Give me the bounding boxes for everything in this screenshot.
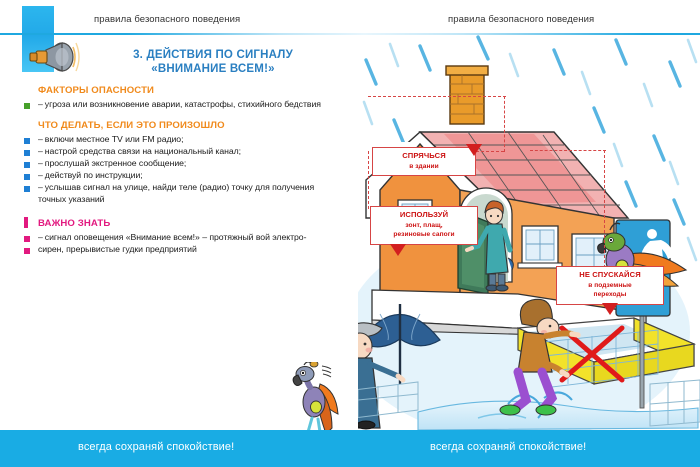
title-line-2: «ВНИМАНИЕ ВСЕМ!»	[78, 62, 348, 76]
section-heading: ЧТО ДЕЛАТЬ, ЕСЛИ ЭТО ПРОИЗОШЛО	[16, 119, 360, 132]
banner-text-right: всегда сохраняй спокойствие!	[430, 441, 586, 453]
square-bullet-icon	[24, 236, 30, 242]
callout-guide-line	[368, 151, 369, 209]
list-item-label: сигнал оповещения «Внимание всем!» – про…	[45, 232, 307, 242]
pink-accent-bar	[24, 217, 28, 228]
callout-title: НЕ СПУСКАЙСЯ	[563, 270, 657, 280]
square-bullet-icon	[24, 103, 30, 109]
hazard-factors-list: –угроза или возникновение аварии, катаст…	[16, 99, 360, 110]
callout-subtitle-line-2: переходы	[563, 290, 657, 300]
list-item: –действуй по инструкции;	[16, 170, 360, 181]
callout-hide-in-building: СПРЯЧЬСЯ в здании	[372, 147, 476, 176]
bottom-banner: всегда сохраняй спокойствие! всегда сохр…	[0, 430, 700, 467]
list-item-label: действуй по инструкции;	[45, 170, 143, 180]
square-bullet-icon	[24, 150, 30, 156]
section-hazard-factors: ФАКТОРЫ ОПАСНОСТИ –угроза или возникнове…	[16, 84, 360, 110]
page-title: 3. ДЕЙСТВИЯ ПО СИГНАЛУ «ВНИМАНИЕ ВСЕМ!»	[78, 48, 348, 76]
list-item: –сигнал оповещения «Внимание всем!» – пр…	[16, 232, 360, 243]
callout-arrow-icon	[390, 244, 406, 256]
section-heading: ФАКТОРЫ ОПАСНОСТИ	[16, 84, 360, 97]
callout-subtitle: в здании	[379, 162, 469, 172]
list-item: –прослушай экстренное сообщение;	[16, 158, 360, 169]
callout-subtitle-line-2: резиновые сапоги	[377, 230, 471, 240]
important-list: –сигнал оповещения «Внимание всем!» – пр…	[16, 232, 360, 255]
list-item-label: услышав сигнал на улице, найди теле (рад…	[45, 182, 314, 192]
square-bullet-icon	[24, 174, 30, 180]
list-item: –настрой средства связи на национальный …	[16, 146, 360, 157]
callout-subtitle-line-1: зонт, плащ,	[377, 221, 471, 231]
list-item-label: настрой средства связи на национальный к…	[45, 146, 241, 156]
header-text-right: правила безопасного поведения	[448, 14, 594, 25]
list-item: –услышав сигнал на улице, найди теле (ра…	[16, 182, 360, 193]
text-panel: ФАКТОРЫ ОПАСНОСТИ –угроза или возникнове…	[16, 84, 360, 256]
callout-guide-line	[368, 96, 506, 97]
square-bullet-icon	[24, 162, 30, 168]
list-item-label: сирен, прерывистые гудки предприятий	[38, 244, 197, 254]
callout-no-underpass: НЕ СПУСКАЙСЯ в подземные переходы	[556, 266, 664, 305]
section-important-to-know: ВАЖНО ЗНАТЬ –сигнал оповещения «Внимание…	[16, 217, 360, 255]
list-item-label: угроза или возникновение аварии, катастр…	[45, 99, 321, 109]
callout-guide-line	[604, 150, 605, 268]
chimney	[446, 66, 488, 124]
square-bullet-icon	[24, 248, 30, 254]
callout-arrow-icon	[602, 303, 618, 315]
square-bullet-icon	[24, 186, 30, 192]
callout-guide-line	[530, 150, 606, 151]
header-text-left: правила безопасного поведения	[94, 14, 240, 25]
list-item: –угроза или возникновение аварии, катаст…	[16, 99, 360, 110]
callout-use-gear: ИСПОЛЬЗУЙ зонт, плащ, резиновые сапоги	[370, 206, 478, 245]
list-item: –включи местное TV или FM радио;	[16, 134, 360, 145]
house-window	[518, 226, 562, 268]
callout-title: СПРЯЧЬСЯ	[379, 151, 469, 161]
safety-poster: правила безопасного поведения правила бе…	[0, 0, 700, 467]
callout-guide-line	[504, 96, 505, 152]
section-what-to-do: ЧТО ДЕЛАТЬ, ЕСЛИ ЭТО ПРОИЗОШЛО –включи м…	[16, 119, 360, 205]
square-bullet-icon	[24, 138, 30, 144]
section-heading: ВАЖНО ЗНАТЬ	[16, 217, 360, 230]
callout-subtitle-line-1: в подземные	[563, 281, 657, 291]
what-to-do-list: –включи местное TV или FM радио; –настро…	[16, 134, 360, 205]
house-window	[454, 32, 488, 66]
callout-title: ИСПОЛЬЗУЙ	[377, 210, 471, 220]
list-item-continuation: сирен, прерывистые гудки предприятий	[16, 244, 360, 255]
banner-text-left: всегда сохраняй спокойствие!	[78, 441, 234, 453]
loudspeaker-icon	[24, 38, 80, 76]
list-item-continuation: точных указаний	[16, 194, 360, 205]
list-item-label: прослушай экстренное сообщение;	[45, 158, 187, 168]
callout-arrow-icon	[466, 144, 482, 156]
list-item-label: включи местное TV или FM радио;	[45, 134, 184, 144]
title-line-1: 3. ДЕЙСТВИЯ ПО СИГНАЛУ	[78, 48, 348, 62]
